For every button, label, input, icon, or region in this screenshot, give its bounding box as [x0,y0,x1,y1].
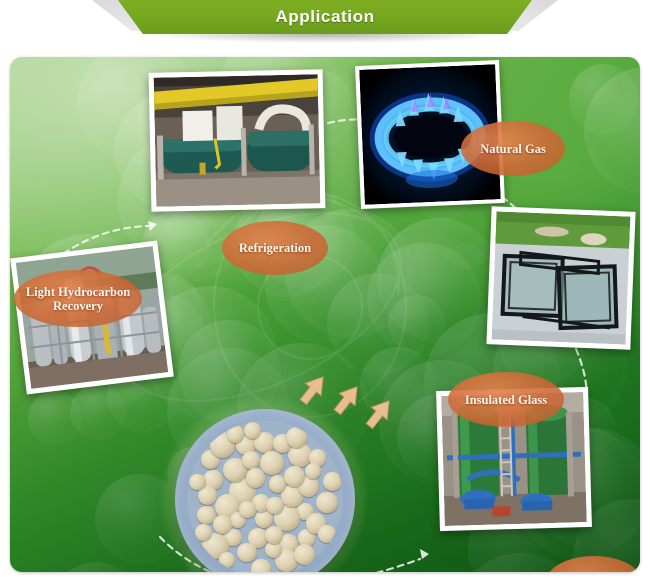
product-flow-arrows [290,357,410,437]
photo-insulated-glass[interactable] [486,206,635,349]
label-lhc-line1: Light Hydrocarbon [26,285,130,299]
label-natural-gas-text: Natural Gas [480,142,546,156]
label-lhc-line2: Recovery [53,299,103,313]
application-panel: Refrigeration Natural Gas Light Hydrocar… [10,57,640,572]
label-light-hydrocarbon-recovery: Light Hydrocarbon Recovery [14,270,142,327]
label-insulated-glass-text: Insulated Glass [465,393,547,407]
ribbon-dropshadow [150,34,500,43]
label-insulated-glass: Insulated Glass [448,372,564,427]
insulated-glass-illustration [492,211,631,344]
ribbon: Application [118,0,532,34]
application-infographic: Application [0,0,650,578]
photo-refrigeration[interactable] [149,69,326,212]
connector-arrowhead-5 [420,549,429,559]
page-title: Application [275,7,374,27]
label-light-hydrocarbon-recovery-text: Light Hydrocarbon Recovery [26,285,130,313]
label-natural-gas: Natural Gas [461,121,565,176]
header-banner: Application [0,0,650,44]
label-refrigeration-text: Refrigeration [239,241,311,255]
label-refrigeration: Refrigeration [222,221,328,275]
connector-arrowhead-1 [148,221,157,231]
refrigeration-illustration [154,74,321,206]
molecular-sieve-beads [187,421,343,572]
